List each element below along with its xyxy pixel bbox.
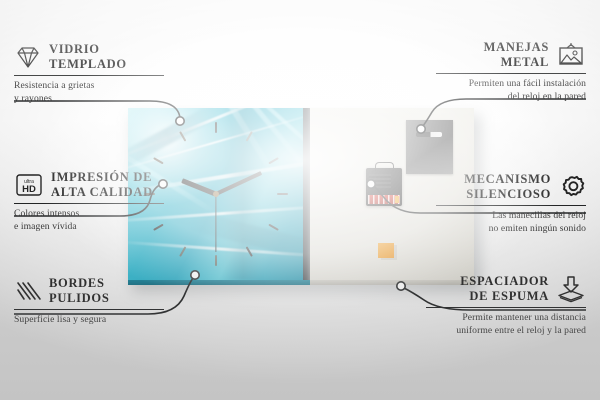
callout-desc-line2: uniforme entre el reloj y la pared	[426, 325, 586, 338]
clock-tick	[215, 255, 217, 266]
clock-center-cap	[213, 191, 219, 197]
callout-rule	[426, 307, 586, 309]
callout-desc-line1: Resistencia a grietas	[14, 80, 164, 93]
callout-title-line1: VIDRIO	[49, 42, 127, 57]
callout-desc-line2: y rayones	[14, 93, 164, 106]
callout-title-line2: TEMPLADO	[49, 57, 127, 72]
callout-espaciador-espuma: ESPACIADOR DE ESPUMA Permite mantener un…	[426, 274, 586, 337]
callout-title-line2: SILENCIOSO	[464, 187, 551, 202]
callout-rule	[14, 203, 164, 205]
clock-tick	[215, 122, 217, 133]
callout-title-row: MECANISMO SILENCIOSO	[436, 172, 586, 202]
callout-title-row: VIDRIO TEMPLADO	[14, 42, 164, 72]
glass-edge	[303, 108, 310, 280]
callout-title-line1: MECANISMO	[464, 172, 551, 187]
battery-tip	[395, 196, 399, 203]
callout-title-row: ESPACIADOR DE ESPUMA	[426, 274, 586, 304]
arrow-onto-pad-icon	[556, 275, 586, 303]
callout-desc-line1: Las manecillas del reloj	[436, 210, 586, 223]
callout-manejas-metal: MANEJAS METAL Permiten una fácil instala…	[436, 40, 586, 103]
diagonal-lines-icon	[14, 279, 42, 303]
callout-title-row: BORDES PULIDOS	[14, 276, 164, 306]
callout-title-line1: IMPRESIÓN DE	[51, 170, 153, 185]
product-image	[128, 108, 478, 286]
hanger-slot	[416, 132, 442, 137]
callout-vidrio-templado: VIDRIO TEMPLADO Resistencia a grietas y …	[14, 42, 164, 105]
callout-title-line2: ALTA CALIDAD	[51, 185, 153, 200]
clock-tick	[268, 157, 279, 164]
callout-rule	[436, 205, 586, 207]
clock-second-hand	[215, 194, 216, 252]
callout-rule	[14, 75, 164, 77]
callout-title-line2: METAL	[484, 55, 549, 70]
gear-icon	[558, 174, 586, 200]
mechanism-hook	[375, 162, 394, 171]
quartz-mechanism	[366, 168, 402, 206]
callout-desc-line2: e imagen vívida	[14, 221, 164, 234]
callout-mecanismo-silencioso: MECANISMO SILENCIOSO Las manecillas del …	[436, 172, 586, 235]
callout-desc-line1: Colores intensos	[14, 208, 164, 221]
mechanism-grill	[369, 174, 391, 188]
callout-title-line1: ESPACIADOR	[460, 274, 549, 289]
foam-spacer-pad	[378, 243, 394, 258]
callout-rule	[14, 309, 164, 311]
callout-title-line2: DE ESPUMA	[460, 289, 549, 304]
callout-impresion-alta-calidad: ultra HD IMPRESIÓN DE ALTA CALIDAD Color…	[14, 170, 164, 233]
metal-hanger-plate	[406, 120, 453, 174]
callout-rule	[436, 73, 586, 75]
callout-title-line2: PULIDOS	[49, 291, 109, 306]
callout-desc-line1: Permite mantener una distancia	[426, 312, 586, 325]
callout-desc-line1: Superficie lisa y segura	[14, 314, 164, 327]
diamond-icon	[14, 45, 42, 69]
framed-picture-icon	[556, 42, 586, 68]
callout-title-row: MANEJAS METAL	[436, 40, 586, 70]
callout-desc-line1: Permiten una fácil instalación	[436, 78, 586, 91]
callout-bordes-pulidos: BORDES PULIDOS Superficie lisa y segura	[14, 276, 164, 327]
battery-compartment	[368, 195, 400, 204]
callout-desc-line2: no emiten ningún sonido	[436, 223, 586, 236]
product-infographic: VIDRIO TEMPLADO Resistencia a grietas y …	[0, 0, 600, 400]
callout-title-row: ultra HD IMPRESIÓN DE ALTA CALIDAD	[14, 170, 164, 200]
clock-tick	[179, 246, 186, 257]
callout-title-line1: BORDES	[49, 276, 109, 291]
clock-tick	[277, 193, 288, 195]
callout-title-line1: MANEJAS	[484, 40, 549, 55]
callout-desc-line2: del reloj en la pared	[436, 91, 586, 104]
ultra-hd-icon: ultra HD	[14, 172, 44, 198]
svg-text:HD: HD	[22, 184, 36, 195]
